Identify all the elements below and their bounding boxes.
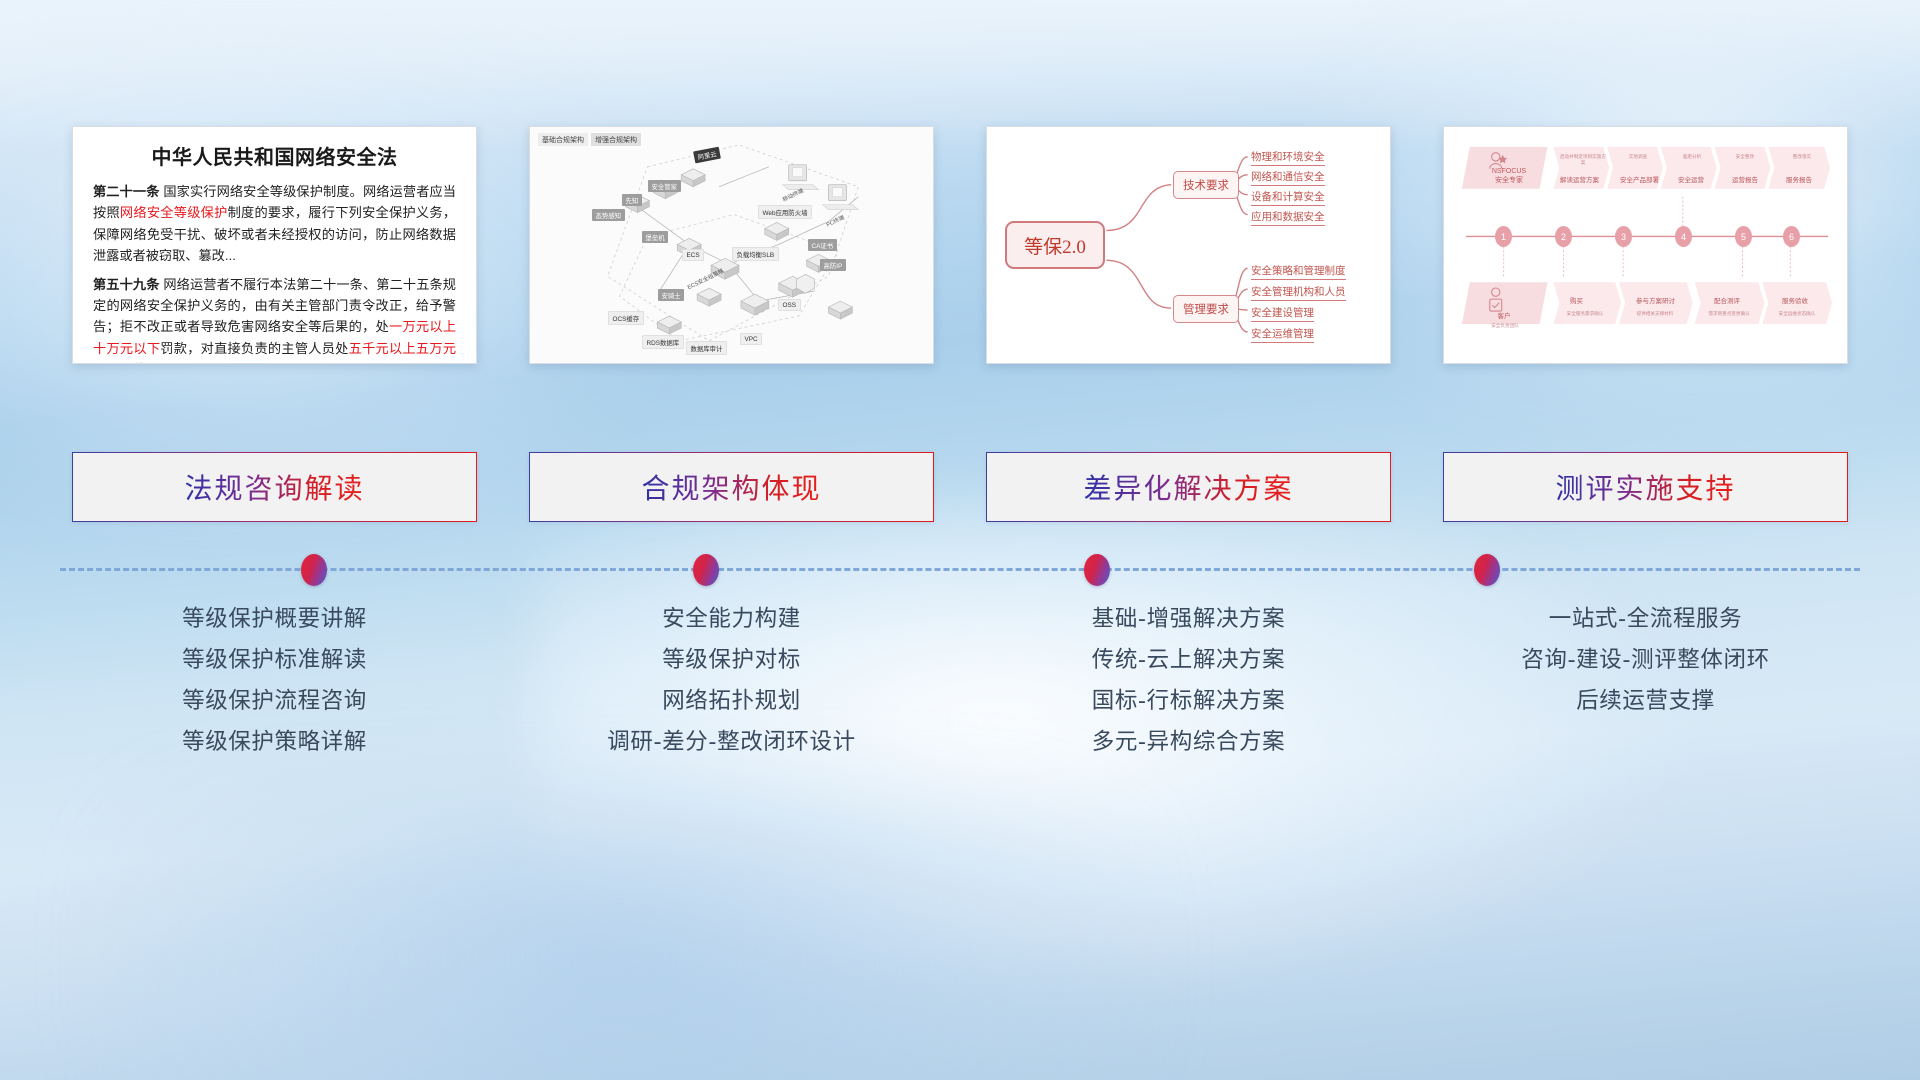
thumbnail-row: 中华人民共和国网络安全法 第二十一条 国家实行网络安全等级保护制度。网络运营者应… bbox=[0, 126, 1920, 364]
step-2: 2 bbox=[1555, 226, 1572, 247]
list-item: 后续运营支撑 bbox=[1443, 686, 1848, 718]
article-2-post: 罚款。 bbox=[119, 362, 159, 364]
architecture-nodes bbox=[530, 127, 933, 364]
top-chevron-3: 差距分析 bbox=[1670, 154, 1714, 160]
section-list-4: 一站式-全流程服务 咨询-建设-测评整体闭环 后续运营支撑 bbox=[1443, 604, 1848, 759]
list-item: 等级保护对标 bbox=[529, 645, 934, 677]
top-chevron-4: 安全整改 bbox=[1722, 154, 1768, 160]
node-label-ca-cert: CA证书 bbox=[808, 239, 837, 251]
timeline bbox=[60, 568, 1860, 608]
card-law-document[interactable]: 中华人民共和国网络安全法 第二十一条 国家实行网络安全等级保护制度。网络运营者应… bbox=[72, 126, 477, 364]
mindmap-root: 等保2.0 bbox=[1005, 221, 1105, 269]
mindmap-branch-management: 管理要求 bbox=[1173, 295, 1239, 323]
list-item: 等级保护流程咨询 bbox=[72, 686, 477, 718]
node-label-anqishi: 安骑士 bbox=[658, 289, 684, 301]
top-caption-2: 安全产品部署 bbox=[1620, 174, 1659, 184]
list-item: 调研-差分-整改闭环设计 bbox=[529, 727, 934, 759]
list-item: 等级保护标准解读 bbox=[72, 645, 477, 677]
section-title-1: 法规咨询解读 bbox=[184, 467, 364, 507]
list-item: 国标-行标解决方案 bbox=[986, 686, 1391, 718]
section-title-box-3[interactable]: 差异化解决方案 bbox=[986, 452, 1391, 522]
node-label-xianzhi: 先知 bbox=[622, 194, 642, 206]
top-chevron-2: 实地调查 bbox=[1616, 154, 1660, 160]
mindmap-leaf-policy: 安全策略和管理制度 bbox=[1251, 263, 1346, 280]
node-label-waf: Web应用防火墙 bbox=[758, 205, 812, 219]
mindmap-leaf-application: 应用和数据安全 bbox=[1251, 209, 1325, 226]
actor-top-role: 安全专家 bbox=[1495, 177, 1523, 184]
bottom-sub-3: 需求侧重点变更确认 bbox=[1700, 311, 1758, 317]
top-chevron-1: 启动并制定项目实施方案 bbox=[1560, 154, 1606, 166]
mindmap-leaf-device: 设备和计算安全 bbox=[1251, 189, 1325, 206]
node-label-situational-awareness: 态势感知 bbox=[592, 209, 625, 221]
step-3: 3 bbox=[1615, 226, 1632, 247]
list-item: 传统-云上解决方案 bbox=[986, 645, 1391, 677]
step-5: 5 bbox=[1735, 226, 1752, 247]
top-chevron-5: 整改落实 bbox=[1776, 154, 1828, 160]
actor-top-name: NSFOCUS bbox=[1492, 168, 1526, 175]
list-item: 网络拓扑规划 bbox=[529, 686, 934, 718]
section-title-box-4[interactable]: 测评实施支持 bbox=[1443, 452, 1848, 522]
card-cloud-architecture[interactable]: 基础合规架构 增强合规架构 bbox=[529, 126, 934, 364]
section-list-3: 基础-增强解决方案 传统-云上解决方案 国标-行标解决方案 多元-异构综合方案 bbox=[986, 604, 1391, 759]
top-caption-5: 服务报告 bbox=[1786, 174, 1812, 184]
list-item: 安全能力构建 bbox=[529, 604, 934, 636]
step-4: 4 bbox=[1675, 226, 1692, 247]
section-list-row: 等级保护概要讲解 等级保护标准解读 等级保护流程咨询 等级保护策略详解 安全能力… bbox=[0, 604, 1920, 759]
timeline-dot-2[interactable] bbox=[693, 554, 719, 586]
top-caption-1: 解读运营方案 bbox=[1560, 174, 1599, 184]
article-2-mid: 罚款，对直接负责的主管人员处 bbox=[160, 341, 348, 356]
law-title: 中华人民共和国网络安全法 bbox=[93, 141, 456, 170]
top-caption-4: 运营报告 bbox=[1732, 174, 1758, 184]
section-list-2: 安全能力构建 等级保护对标 网络拓扑规划 调研-差分-整改闭环设计 bbox=[529, 604, 934, 759]
section-title-box-2[interactable]: 合规架构体现 bbox=[529, 452, 934, 522]
node-label-security-butler: 安全管家 bbox=[648, 180, 681, 192]
bottom-sub-4: 安全运维状态确认 bbox=[1768, 311, 1826, 317]
node-label-oss: OSS bbox=[778, 299, 801, 311]
mindmap-leaf-ops: 安全运维管理 bbox=[1251, 326, 1314, 343]
bottom-caption-2: 参与方案研讨 bbox=[1636, 295, 1675, 305]
list-item: 基础-增强解决方案 bbox=[986, 604, 1391, 636]
section-title-2: 合规架构体现 bbox=[641, 467, 821, 507]
timeline-dot-4[interactable] bbox=[1474, 554, 1500, 586]
mindmap-leaf-physical: 物理和环境安全 bbox=[1251, 149, 1325, 166]
list-item: 等级保护概要讲解 bbox=[72, 604, 477, 636]
card-service-flow[interactable]: NSFOCUS 安全专家 启动并制定项目实施方案 实地调查 差距分析 安全整改 … bbox=[1443, 126, 1848, 364]
bottom-caption-3: 配合测评 bbox=[1714, 295, 1740, 305]
list-item: 多元-异构综合方案 bbox=[986, 727, 1391, 759]
bottom-sub-1: 安全服务需求确认 bbox=[1556, 311, 1614, 317]
section-title-row: 法规咨询解读 合规架构体现 差异化解决方案 测评实施支持 bbox=[0, 452, 1920, 522]
section-title-3: 差异化解决方案 bbox=[1083, 467, 1293, 507]
node-label-ocs-cache: OCS缓存 bbox=[608, 311, 644, 325]
node-label-ecs: ECS bbox=[682, 249, 704, 261]
node-label-anti-ddos-ip: 高防IP bbox=[820, 259, 846, 271]
card-mindmap[interactable]: 等保2.0 技术要求 管理要求 物理和环境安全 网络和通信安全 设备和计算安全 … bbox=[986, 126, 1391, 364]
timeline-dot-1[interactable] bbox=[301, 554, 327, 586]
actor-bottom-role: 客户 bbox=[1474, 313, 1534, 321]
node-label-rds: RDS数据库 bbox=[642, 335, 684, 349]
node-label-vpc: VPC bbox=[740, 333, 762, 345]
node-label-db-audit: 数据库审计 bbox=[686, 341, 727, 355]
top-caption-3: 安全运营 bbox=[1678, 174, 1704, 184]
mindmap-leaf-org: 安全管理机构和人员 bbox=[1251, 284, 1346, 301]
actor-bottom-sub: 安全负责团队 bbox=[1470, 323, 1540, 329]
list-item: 一站式-全流程服务 bbox=[1443, 604, 1848, 636]
article-1-highlight: 网络安全等级保护 bbox=[120, 205, 228, 220]
bottom-caption-4: 服务验收 bbox=[1782, 295, 1808, 305]
mindmap-leaf-network: 网络和通信安全 bbox=[1251, 169, 1325, 186]
timeline-dot-3[interactable] bbox=[1084, 554, 1110, 586]
step-6: 6 bbox=[1783, 226, 1800, 247]
section-title-4: 测评实施支持 bbox=[1555, 467, 1735, 507]
list-item: 等级保护策略详解 bbox=[72, 727, 477, 759]
article-number-2: 第五十九条 bbox=[93, 277, 160, 292]
timeline-dashed-line bbox=[60, 568, 1860, 571]
step-1: 1 bbox=[1495, 226, 1512, 247]
section-list-1: 等级保护概要讲解 等级保护标准解读 等级保护流程咨询 等级保护策略详解 bbox=[72, 604, 477, 759]
bottom-caption-1: 购买 bbox=[1570, 295, 1583, 305]
node-label-bastion-host: 堡垒机 bbox=[642, 231, 668, 243]
section-title-box-1[interactable]: 法规咨询解读 bbox=[72, 452, 477, 522]
bottom-sub-2: 提供相关支撑材料 bbox=[1626, 311, 1684, 317]
node-label-slb: 负载均衡SLB bbox=[732, 247, 779, 261]
law-paragraph-1: 第二十一条 国家实行网络安全等级保护制度。网络运营者应当按照网络安全等级保护制度… bbox=[93, 181, 456, 267]
mindmap-branch-technical: 技术要求 bbox=[1173, 171, 1239, 199]
law-paragraph-2: 第五十九条 网络运营者不履行本法第二十一条、第二十五条规定的网络安全保护义务的，… bbox=[93, 274, 456, 365]
mindmap-leaf-construction: 安全建设管理 bbox=[1251, 305, 1314, 322]
article-number-1: 第二十一条 bbox=[93, 184, 160, 199]
list-item: 咨询-建设-测评整体闭环 bbox=[1443, 645, 1848, 677]
